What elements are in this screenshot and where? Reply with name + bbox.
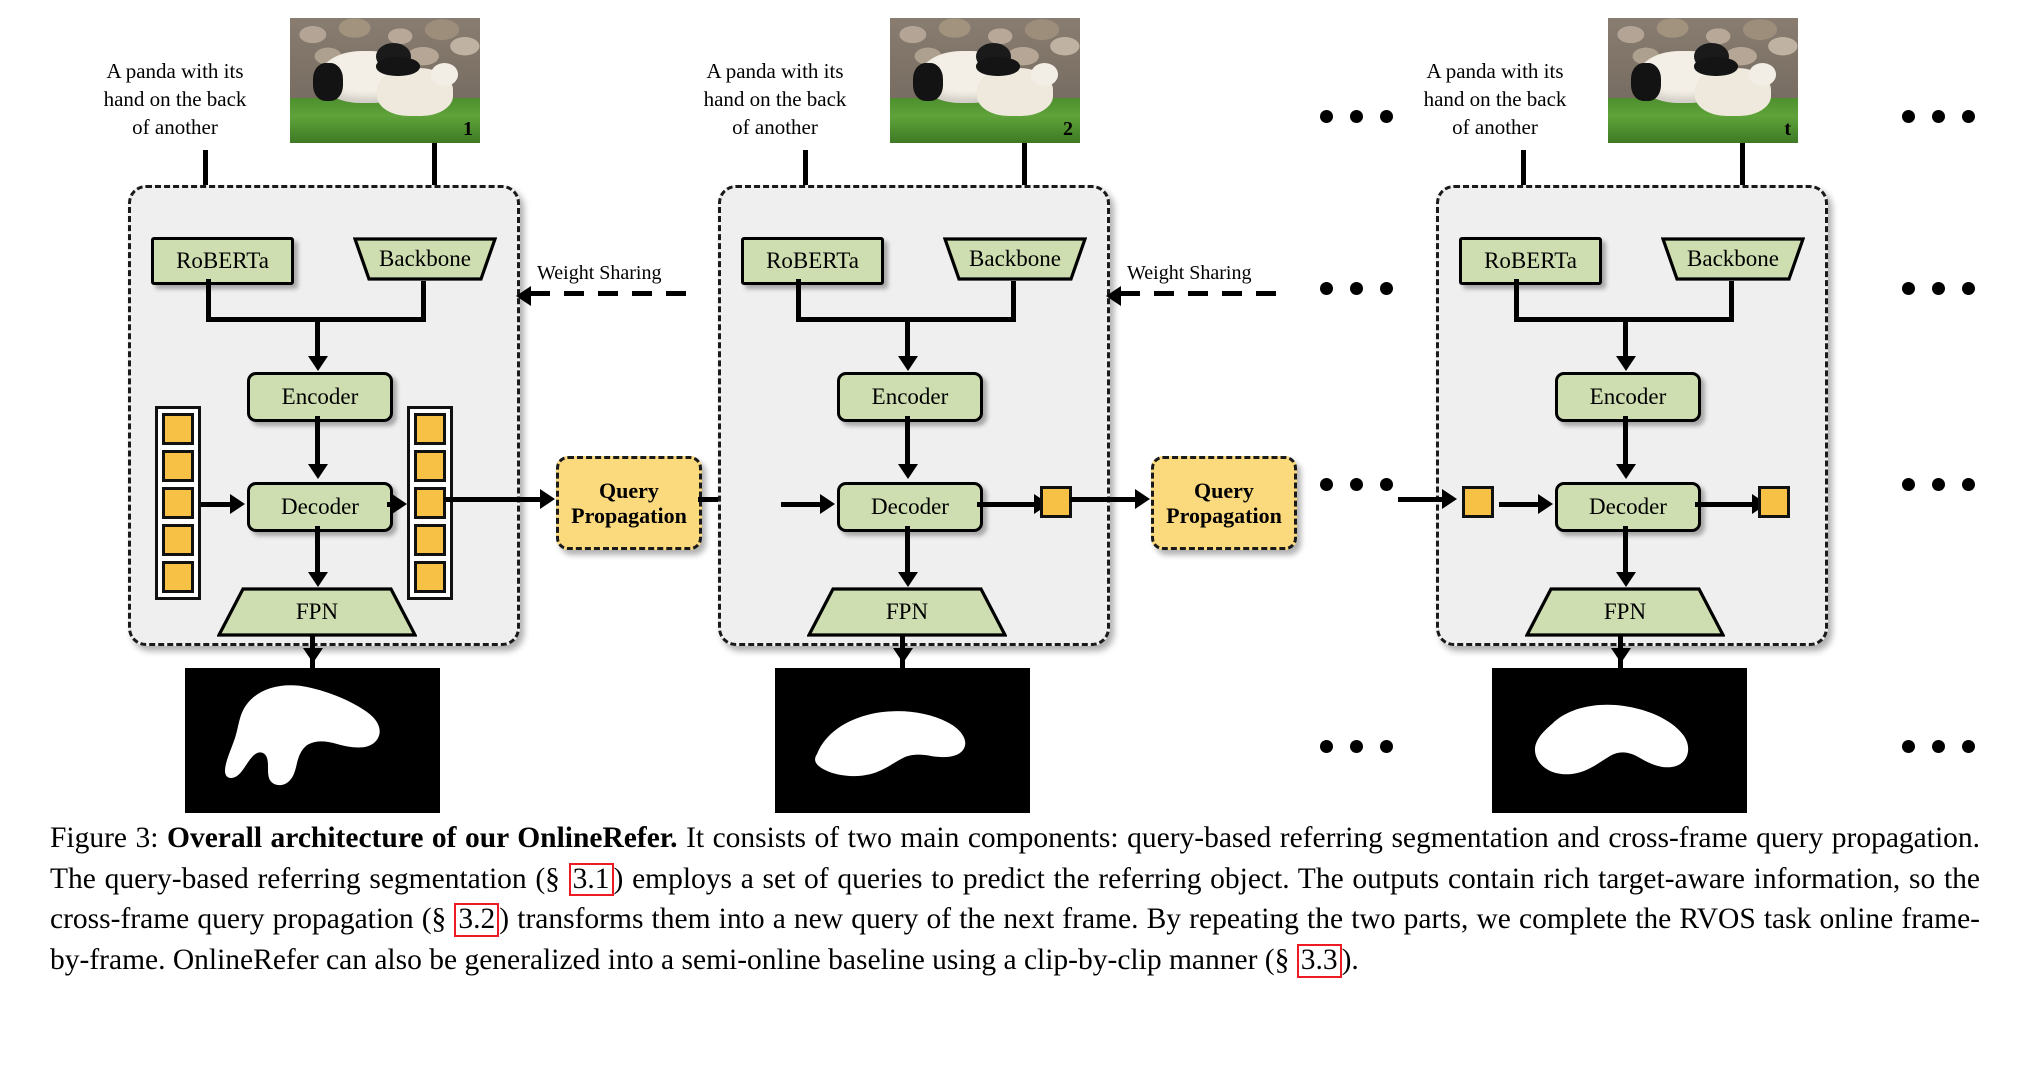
- query-token: [162, 524, 194, 556]
- query-token: [162, 450, 194, 482]
- caption-title: Overall architecture of our OnlineRefer.: [167, 822, 678, 854]
- dot: [1380, 110, 1393, 123]
- node-backbone-label: Backbone: [969, 246, 1061, 272]
- query-propagation-line1: Query: [599, 478, 659, 503]
- node-encoder-1[interactable]: Encoder: [247, 372, 393, 422]
- arrow-head-to-fpn-t: [1616, 572, 1636, 587]
- query-token: [414, 487, 446, 519]
- arrow-head-to-encoder-1: [308, 356, 328, 371]
- line-merge-to-encoder-1: [315, 317, 320, 359]
- frame-index-label: 2: [1063, 118, 1073, 141]
- arrow-head-to-decoder-2: [898, 464, 918, 479]
- figure-canvas: A panda with its hand on the back of ano…: [0, 0, 2024, 1068]
- line-decoder-out-t: [1695, 502, 1755, 507]
- line-backbone-down-2: [1011, 281, 1016, 321]
- arrow-head-weight-sharing-2: [1106, 286, 1121, 306]
- video-frame-t: t: [1608, 18, 1798, 143]
- query-token: [162, 413, 194, 445]
- dot: [1380, 478, 1393, 491]
- node-backbone-label: Backbone: [1687, 246, 1779, 272]
- ellipsis-module-right: [1902, 282, 1975, 295]
- node-fpn-label: FPN: [886, 599, 928, 625]
- node-decoder-1[interactable]: Decoder: [247, 482, 393, 532]
- line-decoder-to-fpn-1: [315, 526, 320, 578]
- arrow-head-weight-sharing-1: [516, 286, 531, 306]
- prompt-text-frame-t: A panda with its hand on the back of ano…: [1420, 58, 1570, 142]
- video-frame-2: 2: [890, 18, 1080, 143]
- arrow-head-fpn-to-mask-2: [893, 648, 913, 663]
- line-token-to-decoder-t: [1499, 502, 1539, 507]
- line-queries-to-decoder-1: [201, 502, 231, 507]
- panda-b: [1695, 68, 1771, 116]
- dot: [1932, 740, 1945, 753]
- ellipsis-top-middle: [1320, 110, 1393, 123]
- ellipsis-mask-middle: [1320, 740, 1393, 753]
- node-encoder-label: Encoder: [282, 384, 359, 410]
- line-into-token-t: [1398, 497, 1444, 502]
- mask-output-t: [1492, 668, 1747, 813]
- arrow-head-queries-to-decoder-1: [230, 494, 245, 514]
- dot: [1902, 478, 1915, 491]
- arrow-head-to-encoder-2: [898, 356, 918, 371]
- line-decoder-to-fpn-t: [1623, 526, 1628, 578]
- dot: [1962, 740, 1975, 753]
- query-token: [162, 487, 194, 519]
- panda-b: [377, 68, 453, 116]
- node-decoder-t[interactable]: Decoder: [1555, 482, 1701, 532]
- arrow-head-to-qprop-2: [1135, 489, 1150, 509]
- mask-output-2: [775, 668, 1030, 813]
- mask-silhouette-icon: [1492, 668, 1747, 813]
- query-token: [414, 450, 446, 482]
- node-decoder-label: Decoder: [1589, 494, 1667, 520]
- node-roberta-label: RoBERTa: [766, 248, 859, 274]
- weight-sharing-label-2: Weight Sharing: [1127, 262, 1251, 285]
- section-ref-3-1[interactable]: 3.1: [569, 863, 614, 897]
- caption-figure-number: Figure 3:: [50, 822, 158, 854]
- node-encoder-t[interactable]: Encoder: [1555, 372, 1701, 422]
- arrow-head-fpn-to-mask-1: [303, 648, 323, 663]
- node-decoder-2[interactable]: Decoder: [837, 482, 983, 532]
- dot: [1932, 478, 1945, 491]
- arrow-head-token-to-decoder-t: [1538, 494, 1553, 514]
- weight-sharing-label-1: Weight Sharing: [537, 262, 661, 285]
- dot: [1962, 478, 1975, 491]
- node-fpn-t[interactable]: FPN: [1525, 587, 1725, 637]
- dot: [1962, 282, 1975, 295]
- arrow-head-to-fpn-2: [898, 572, 918, 587]
- query-propagation-line2: Propagation: [571, 503, 687, 528]
- query-token: [414, 561, 446, 593]
- node-encoder-2[interactable]: Encoder: [837, 372, 983, 422]
- query-token-column-output-1: [407, 406, 453, 600]
- line-token-to-decoder-2: [781, 502, 821, 507]
- weight-sharing-dashed-line-2: [1120, 291, 1280, 296]
- frame-index-label: 1: [463, 118, 473, 141]
- node-roberta-label: RoBERTa: [1484, 248, 1577, 274]
- module-frame-t: RoBERTa Backbone Encoder Decoder: [1436, 185, 1828, 646]
- dot: [1962, 110, 1975, 123]
- dot: [1902, 282, 1915, 295]
- arrow-head-to-fpn-1: [308, 572, 328, 587]
- propagated-query-token-t-out: [1758, 486, 1790, 518]
- node-fpn-label: FPN: [1604, 599, 1646, 625]
- prompt-text-frame-2: A panda with its hand on the back of ano…: [700, 58, 850, 142]
- frame-index-label: t: [1784, 118, 1791, 141]
- query-token: [414, 524, 446, 556]
- query-propagation-line2: Propagation: [1166, 503, 1282, 528]
- figure-caption: Figure 3: Overall architecture of our On…: [50, 818, 1980, 981]
- node-fpn-1[interactable]: FPN: [217, 587, 417, 637]
- dot: [1320, 110, 1333, 123]
- line-decoder-to-fpn-2: [905, 526, 910, 578]
- line-backbone-down-1: [421, 281, 426, 321]
- ellipsis-top-right: [1902, 110, 1975, 123]
- ellipsis-mask-right: [1902, 740, 1975, 753]
- query-propagation-box-2[interactable]: Query Propagation: [1151, 456, 1297, 550]
- node-roberta-1[interactable]: RoBERTa: [151, 237, 294, 285]
- line-merge-to-encoder-2: [905, 317, 910, 359]
- line-merge-to-encoder-t: [1623, 317, 1628, 359]
- section-ref-3-2[interactable]: 3.2: [454, 903, 499, 937]
- ellipsis-query-right: [1902, 478, 1975, 491]
- dot: [1350, 740, 1363, 753]
- node-fpn-2[interactable]: FPN: [807, 587, 1007, 637]
- arrow-head-into-token-t: [1442, 489, 1457, 509]
- dot: [1320, 740, 1333, 753]
- dot: [1932, 282, 1945, 295]
- module-frame-2: RoBERTa Backbone Encoder Decoder: [718, 185, 1110, 646]
- line-roberta-down-2: [796, 279, 801, 321]
- node-decoder-label: Decoder: [871, 494, 949, 520]
- node-decoder-label: Decoder: [281, 494, 359, 520]
- query-token: [414, 413, 446, 445]
- dot: [1320, 282, 1333, 295]
- propagated-query-token-2: [1040, 486, 1072, 518]
- node-backbone-label: Backbone: [379, 246, 471, 272]
- arrow-head-to-encoder-t: [1616, 356, 1636, 371]
- line-encoder-to-decoder-1: [315, 416, 320, 470]
- arrow-head-decoder-to-queries-1: [392, 494, 407, 514]
- line-token-to-qprop-2: [1070, 497, 1138, 502]
- node-backbone-2[interactable]: Backbone: [943, 237, 1087, 281]
- mask-silhouette-icon: [185, 668, 440, 813]
- video-frame-1: 1: [290, 18, 480, 143]
- arrow-head-token-to-decoder-2: [820, 494, 835, 514]
- line-roberta-down-1: [206, 279, 211, 321]
- line-encoder-to-decoder-2: [905, 416, 910, 470]
- dot: [1380, 282, 1393, 295]
- line-encoder-to-decoder-t: [1623, 416, 1628, 470]
- dot: [1902, 110, 1915, 123]
- dot: [1320, 478, 1333, 491]
- dot: [1350, 478, 1363, 491]
- node-roberta-2[interactable]: RoBERTa: [741, 237, 884, 285]
- node-encoder-label: Encoder: [872, 384, 949, 410]
- node-roberta-t[interactable]: RoBERTa: [1459, 237, 1602, 285]
- module-frame-1: RoBERTa Backbone Encoder Decoder: [128, 185, 520, 646]
- query-propagation-box-1[interactable]: Query Propagation: [556, 456, 702, 550]
- arrow-head-to-qprop-1: [540, 489, 555, 509]
- mask-output-1: [185, 668, 440, 813]
- panda-b: [977, 68, 1053, 116]
- dot: [1902, 740, 1915, 753]
- propagated-query-token-t-in: [1462, 486, 1494, 518]
- caption-body-4: ).: [1342, 944, 1359, 976]
- line-roberta-down-t: [1514, 279, 1519, 321]
- node-encoder-label: Encoder: [1590, 384, 1667, 410]
- dot: [1350, 110, 1363, 123]
- mask-silhouette-icon: [775, 668, 1030, 813]
- line-backbone-down-t: [1729, 281, 1734, 321]
- line-queries-out-to-qprop-1: [444, 497, 542, 502]
- weight-sharing-dashed-line-1: [530, 291, 690, 296]
- query-token-column-input-1: [155, 406, 201, 600]
- node-backbone-t[interactable]: Backbone: [1661, 237, 1805, 281]
- arrow-head-to-decoder-1: [308, 464, 328, 479]
- node-roberta-label: RoBERTa: [176, 248, 269, 274]
- dot: [1932, 110, 1945, 123]
- node-fpn-label: FPN: [296, 599, 338, 625]
- ellipsis-query-middle: [1320, 478, 1393, 491]
- line-decoder-out-2: [977, 502, 1037, 507]
- arrow-head-to-decoder-t: [1616, 464, 1636, 479]
- query-token: [162, 561, 194, 593]
- query-propagation-line1: Query: [1194, 478, 1254, 503]
- prompt-text-frame-1: A panda with its hand on the back of ano…: [100, 58, 250, 142]
- arrow-head-fpn-to-mask-t: [1611, 648, 1631, 663]
- dot: [1380, 740, 1393, 753]
- dot: [1350, 282, 1363, 295]
- section-ref-3-3[interactable]: 3.3: [1297, 944, 1342, 978]
- node-backbone-1[interactable]: Backbone: [353, 237, 497, 281]
- ellipsis-module-middle: [1320, 282, 1393, 295]
